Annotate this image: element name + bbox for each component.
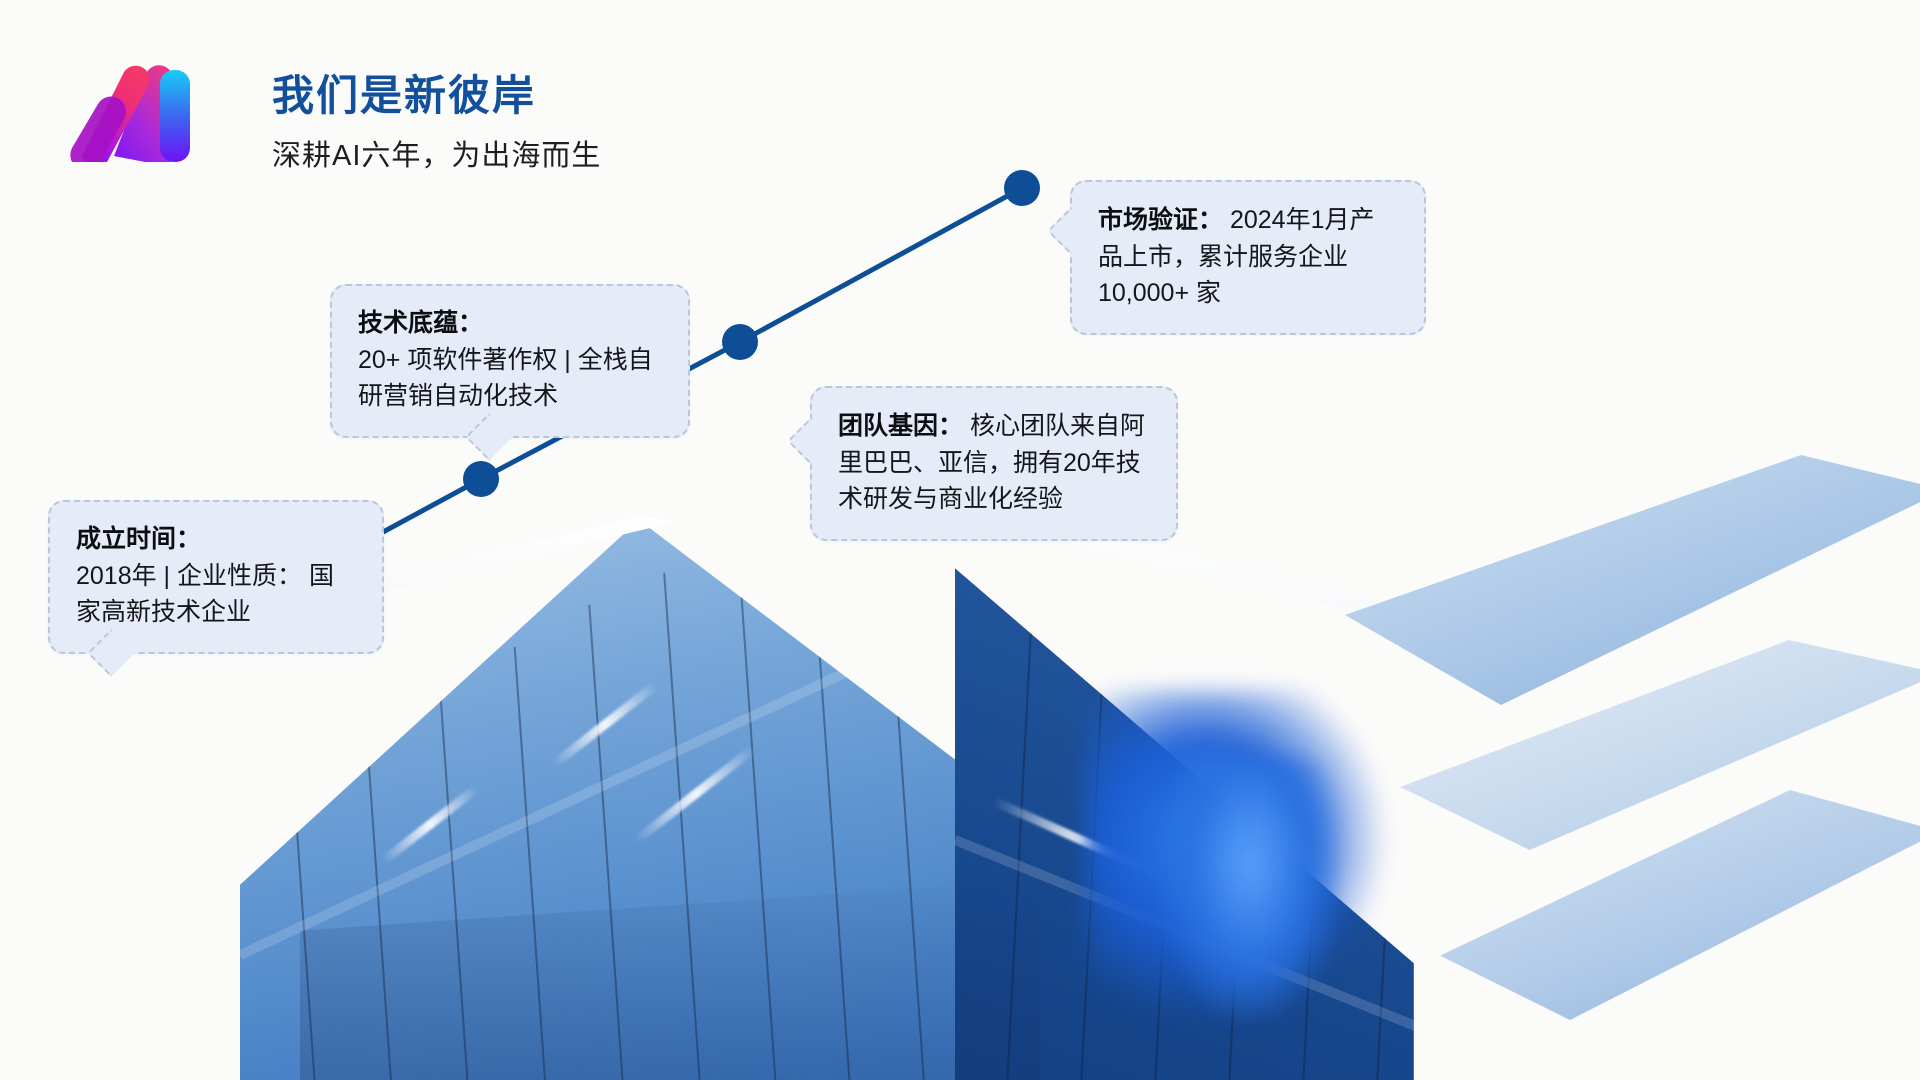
callout-market[interactable]: 市场验证： 2024年1月产品上市，累计服务企业 10,000+ 家 (1070, 180, 1426, 335)
timeline-node-4[interactable] (1004, 170, 1040, 206)
callout-founding-body: 2018年 | 企业性质： 国家高新技术企业 (76, 558, 356, 630)
timeline-node-3[interactable] (722, 324, 758, 360)
callout-technology-body: 20+ 项软件著作权 | 全栈自研营销自动化技术 (358, 342, 662, 414)
callout-technology[interactable]: 技术底蕴： 20+ 项软件著作权 | 全栈自研营销自动化技术 (330, 284, 690, 438)
callout-team[interactable]: 团队基因： 核心团队来自阿里巴巴、亚信，拥有20年技术研发与商业化经验 (810, 386, 1178, 541)
callout-team-heading: 团队基因： (838, 412, 963, 440)
callout-market-heading: 市场验证： (1098, 206, 1223, 234)
callout-technology-heading: 技术底蕴： (358, 306, 662, 342)
slide-canvas: 我们是新彼岸 深耕AI六年，为出海而生 成立时间： 2018年 | 企业性质： … (0, 0, 1920, 1080)
callout-founding-heading: 成立时间： (76, 522, 356, 558)
timeline-node-2[interactable] (463, 461, 499, 497)
callout-founding[interactable]: 成立时间： 2018年 | 企业性质： 国家高新技术企业 (48, 500, 384, 654)
